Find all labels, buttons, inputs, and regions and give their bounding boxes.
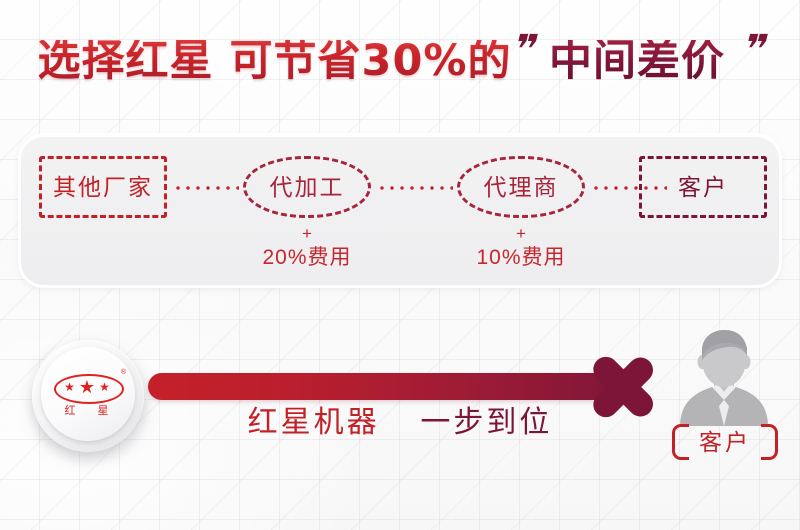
quote-close-icon: ❞ [738,27,771,73]
fee-agent: + 10%费用 [441,224,601,270]
chain-node-label: 代加工 [270,176,345,199]
headline-emphasis: 中间差价 [549,40,725,83]
logo-stars-icon: ★ ★ ★ [54,376,120,398]
headline-part2: 可节省30%的 [230,40,512,83]
slogan-brand: 红星机器 [248,406,380,439]
slogan-tagline: 一步到位 [420,406,552,439]
chain-node-other-factory: 其他厂家 [39,156,167,218]
fee-plus-sign: + [227,224,387,244]
star-icon: ★ [64,381,75,393]
customer-label: 客户 [699,431,751,454]
chain-node-agent: 代理商 [457,156,585,218]
fee-plus-sign: + [441,224,601,244]
chain-node-customer: 客户 [639,156,767,218]
bracket-right-icon [761,424,778,460]
poster-canvas: 选择红星 可节省30%的 ❞ 中间差价 ❞ 其他厂家 代加工 + 20%费用 代… [0,0,800,530]
chain-node-label: 其他厂家 [53,176,153,199]
registered-trademark-icon: ® [121,369,126,376]
supply-chain-flow: 其他厂家 代加工 + 20%费用 代理商 + 10%费用 客户 [21,136,785,291]
brand-logo-badge: ★ ★ ★ ® 红 星 [32,340,152,460]
chain-node-oem: 代加工 [243,156,371,218]
headline: 选择红星 可节省30%的 ❞ 中间差价 ❞ [0,26,800,96]
customer-person-icon [668,326,780,426]
connector-dots-1 [173,186,239,190]
connector-dots-2 [377,186,453,190]
headline-part1: 选择红星 [38,40,214,83]
chain-node-label: 代理商 [484,176,559,199]
fee-amount: 20%费用 [227,246,387,270]
fee-oem: + 20%费用 [227,224,387,270]
star-icon: ★ [99,381,110,393]
customer-label-group: 客户 [640,424,800,460]
fee-amount: 10%费用 [441,246,601,270]
quote-open-icon: ❞ [508,27,541,73]
direct-path-arrow-shaft [148,373,640,400]
bracket-left-icon [672,424,689,460]
supply-chain-panel: 其他厂家 代加工 + 20%费用 代理商 + 10%费用 客户 [18,133,782,288]
chain-node-label: 客户 [678,176,728,199]
star-icon-main: ★ [79,378,95,396]
